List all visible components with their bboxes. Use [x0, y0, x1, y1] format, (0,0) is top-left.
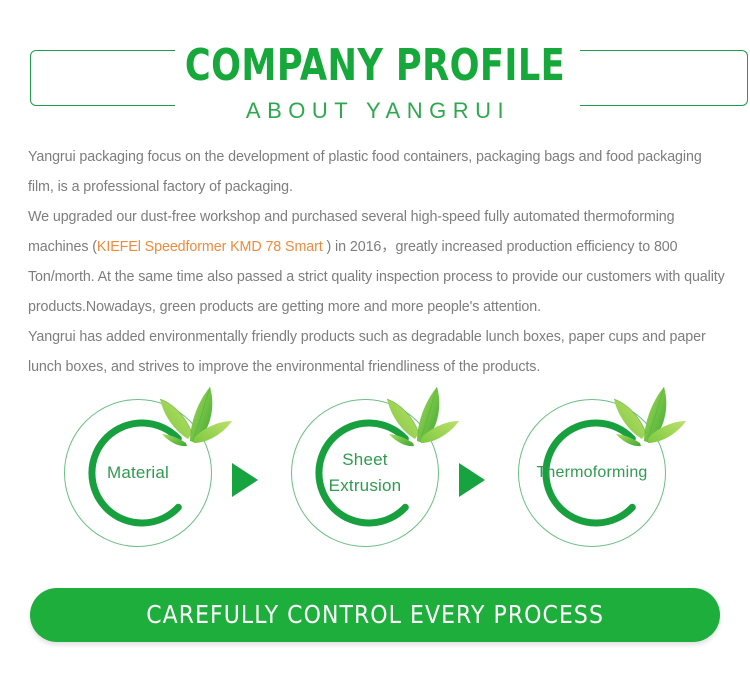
page-title: COMPANY PROFILE	[75, 20, 675, 94]
process-step-label: Sheet Extrusion	[303, 409, 427, 537]
page-subtitle: ABOUT YANGRUI	[0, 94, 750, 126]
machine-model-highlight: KIEFEl Speedformer KMD 78 Smart	[97, 239, 323, 255]
about-paragraph-1: Yangrui packaging focus on the developme…	[28, 142, 728, 202]
page-header: COMPANY PROFILE ABOUT YANGRUI	[0, 20, 750, 125]
about-paragraph-1-text: Yangrui packaging focus on the developme…	[28, 149, 702, 195]
play-triangle-right-icon	[459, 463, 485, 497]
process-step-material: Material	[58, 385, 218, 565]
about-paragraph-3-text: Yangrui has added environmentally friend…	[28, 329, 706, 375]
process-step-label: Material	[76, 409, 200, 537]
footer-banner-text: CAREFULLY CONTROL EVERY PROCESS	[146, 600, 604, 630]
process-flow: Material Sheet Extrusion	[0, 385, 750, 565]
about-paragraph-3: Yangrui has added environmentally friend…	[28, 322, 728, 382]
process-step-sheet-extrusion: Sheet Extrusion	[285, 385, 445, 565]
about-paragraph-2: We upgraded our dust-free workshop and p…	[28, 202, 728, 322]
process-step-thermoforming: Thermoforming	[512, 385, 672, 565]
about-description: Yangrui packaging focus on the developme…	[28, 142, 728, 382]
process-step-label: Thermoforming	[530, 409, 654, 537]
footer-banner: CAREFULLY CONTROL EVERY PROCESS	[30, 588, 720, 642]
play-triangle-right-icon	[232, 463, 258, 497]
header-title-block: COMPANY PROFILE ABOUT YANGRUI	[0, 20, 750, 126]
